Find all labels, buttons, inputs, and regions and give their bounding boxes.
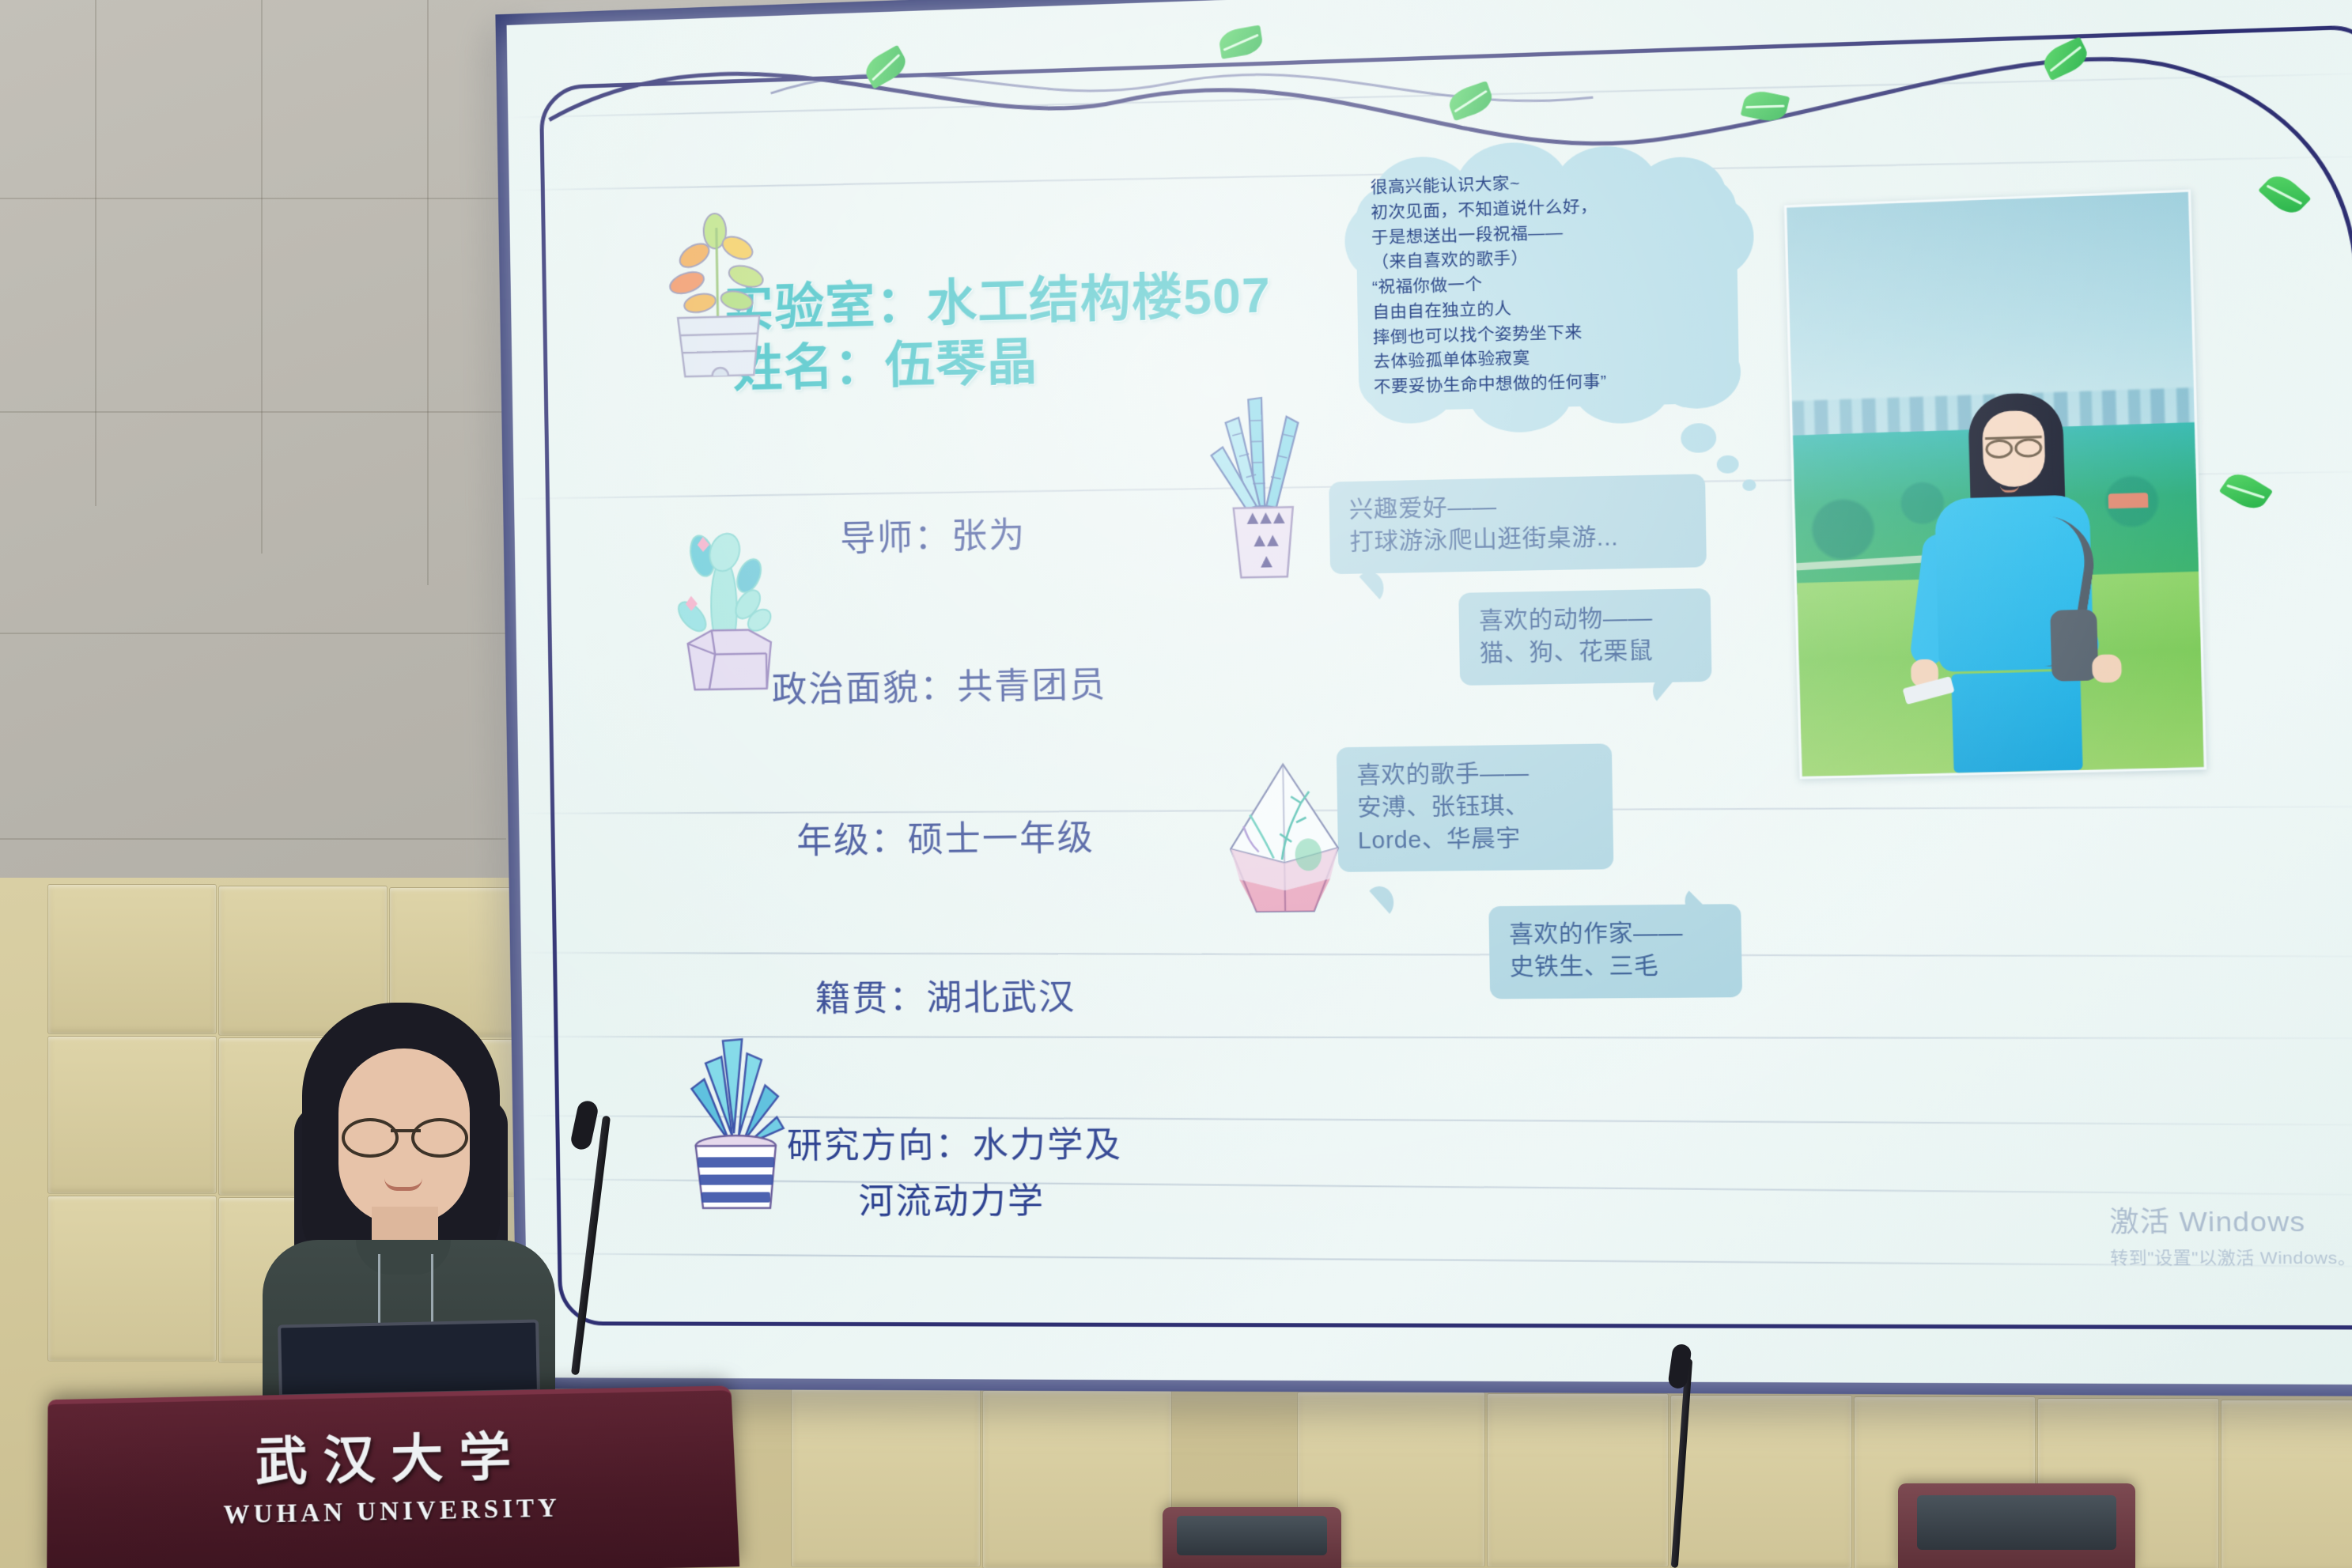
- chair: [1898, 1483, 2135, 1568]
- plant-geometric-terrarium: [1221, 757, 1348, 944]
- bubble-tail: [1685, 886, 1714, 916]
- leaf-icon: [2039, 36, 2092, 81]
- thought-cloud: 很高兴能认识大家~ 初次见面，不知道说什么好， 于是想送出一段祝福—— （来自喜…: [1348, 142, 1747, 440]
- podium-university-name-cn: 武汉大学: [255, 1415, 527, 1495]
- info-research: 研究方向：水力学及: [786, 1116, 1122, 1168]
- plant-agave-striped-pot: [675, 1022, 798, 1221]
- lecture-hall-scene: 实验室：水工结构楼507 姓名：伍琴晶 导师：张为 政治面貌：共青团员 年级：硕…: [0, 0, 2352, 1568]
- podium-university-name-en: WUHAN UNIVERSITY: [223, 1494, 561, 1530]
- info-research-2: 河流动力学: [858, 1173, 1046, 1224]
- wall-pad: [2221, 1400, 2352, 1568]
- wall-seam: [427, 0, 429, 585]
- leaf-icon: [2219, 468, 2273, 516]
- wall-pad: [47, 1036, 217, 1194]
- bubble-tail: [1365, 886, 1393, 919]
- leaf-icon: [1218, 25, 1265, 59]
- projection-screen-frame: 实验室：水工结构楼507 姓名：伍琴晶 导师：张为 政治面貌：共青团员 年级：硕…: [495, 0, 2352, 1396]
- info-hometown: 籍贯：湖北武汉: [815, 968, 1076, 1021]
- bubble-hobbies: 兴趣爱好—— 打球游泳爬山逛街桌游...: [1329, 474, 1707, 574]
- bubble-writers: 喜欢的作家—— 史铁生、三毛: [1488, 904, 1742, 999]
- photo-person-bag: [2050, 609, 2098, 681]
- plant-orange-succulent: [657, 198, 780, 383]
- slide-sketch-line: [523, 1036, 2352, 1039]
- chair-back: [1917, 1495, 2116, 1549]
- plant-prickly-pear-cactus: [670, 501, 787, 702]
- wall-pad: [47, 884, 217, 1034]
- cloud-text: 很高兴能认识大家~ 初次见面，不知道说什么好， 于是想送出一段祝福—— （来自喜…: [1371, 165, 1734, 400]
- chair: [1163, 1507, 1341, 1568]
- wall-seam: [0, 198, 522, 199]
- wall-pad: [791, 1389, 981, 1567]
- profile-photo: [1784, 189, 2206, 779]
- plant-snake-plant: [1207, 383, 1319, 588]
- wall-seam: [0, 838, 506, 840]
- photo-person-glasses-icon: [1985, 436, 2042, 452]
- cloud-tail-dot: [1681, 423, 1716, 453]
- slide-sketch-line: [508, 71, 2352, 119]
- cloud-tail-dot: [1717, 455, 1739, 474]
- wall-pad: [1487, 1393, 1669, 1567]
- laptop-on-podium: [278, 1320, 540, 1398]
- leaf-icon: [2258, 169, 2312, 219]
- photo-person-hand-right: [2092, 654, 2122, 683]
- info-advisor: 导师：张为: [840, 506, 1027, 561]
- wall-pad: [1670, 1395, 1852, 1568]
- bubble-tail: [1355, 572, 1383, 605]
- wall-pad: [47, 1196, 217, 1362]
- bubble-tail: [1653, 675, 1679, 705]
- photo-building-roof: [2108, 493, 2148, 508]
- leaf-icon: [860, 45, 910, 89]
- cloud-tail-dot: [1742, 479, 1756, 491]
- slide-sketch-line: [525, 1178, 2352, 1196]
- projection-screen-surface: 实验室：水工结构楼507 姓名：伍琴晶 导师：张为 政治面貌：共青团员 年级：硕…: [507, 0, 2352, 1385]
- bubble-animals: 喜欢的动物—— 猫、狗、花栗鼠: [1458, 588, 1711, 686]
- slide-title: 实验室：水工结构楼507 姓名：伍琴晶: [724, 265, 1272, 400]
- info-grade: 年级：硕士一年级: [796, 809, 1095, 863]
- info-political: 政治面貌：共青团员: [771, 656, 1107, 712]
- wall-seam: [95, 0, 96, 506]
- wall-seam: [0, 633, 522, 634]
- leaf-icon: [1446, 81, 1496, 121]
- slide-sketch-line: [521, 952, 2352, 958]
- bubble-singers: 喜欢的歌手—— 安溥、张钰琪、 Lorde、华晨宇: [1337, 743, 1614, 872]
- wall-pad: [982, 1390, 1172, 1568]
- lectern-podium: 武汉大学 WUHAN UNIVERSITY: [47, 1385, 739, 1568]
- slide-sketch-line: [526, 1253, 2352, 1268]
- photo-person-skirt: [1951, 671, 2082, 773]
- presentation-slide: 实验室：水工结构楼507 姓名：伍琴晶 导师：张为 政治面貌：共青团员 年级：硕…: [507, 0, 2352, 1385]
- leaf-icon: [1741, 88, 1790, 124]
- windows-activation-watermark: 激活 Windows 转到"设置"以激活 Windows。: [2109, 1199, 2352, 1270]
- chair-back: [1177, 1516, 1327, 1555]
- watermark-title: 激活 Windows: [2109, 1199, 2352, 1240]
- wall-seam: [0, 411, 522, 413]
- presenter-glasses-icon: [342, 1118, 468, 1151]
- wall-seam: [261, 0, 263, 554]
